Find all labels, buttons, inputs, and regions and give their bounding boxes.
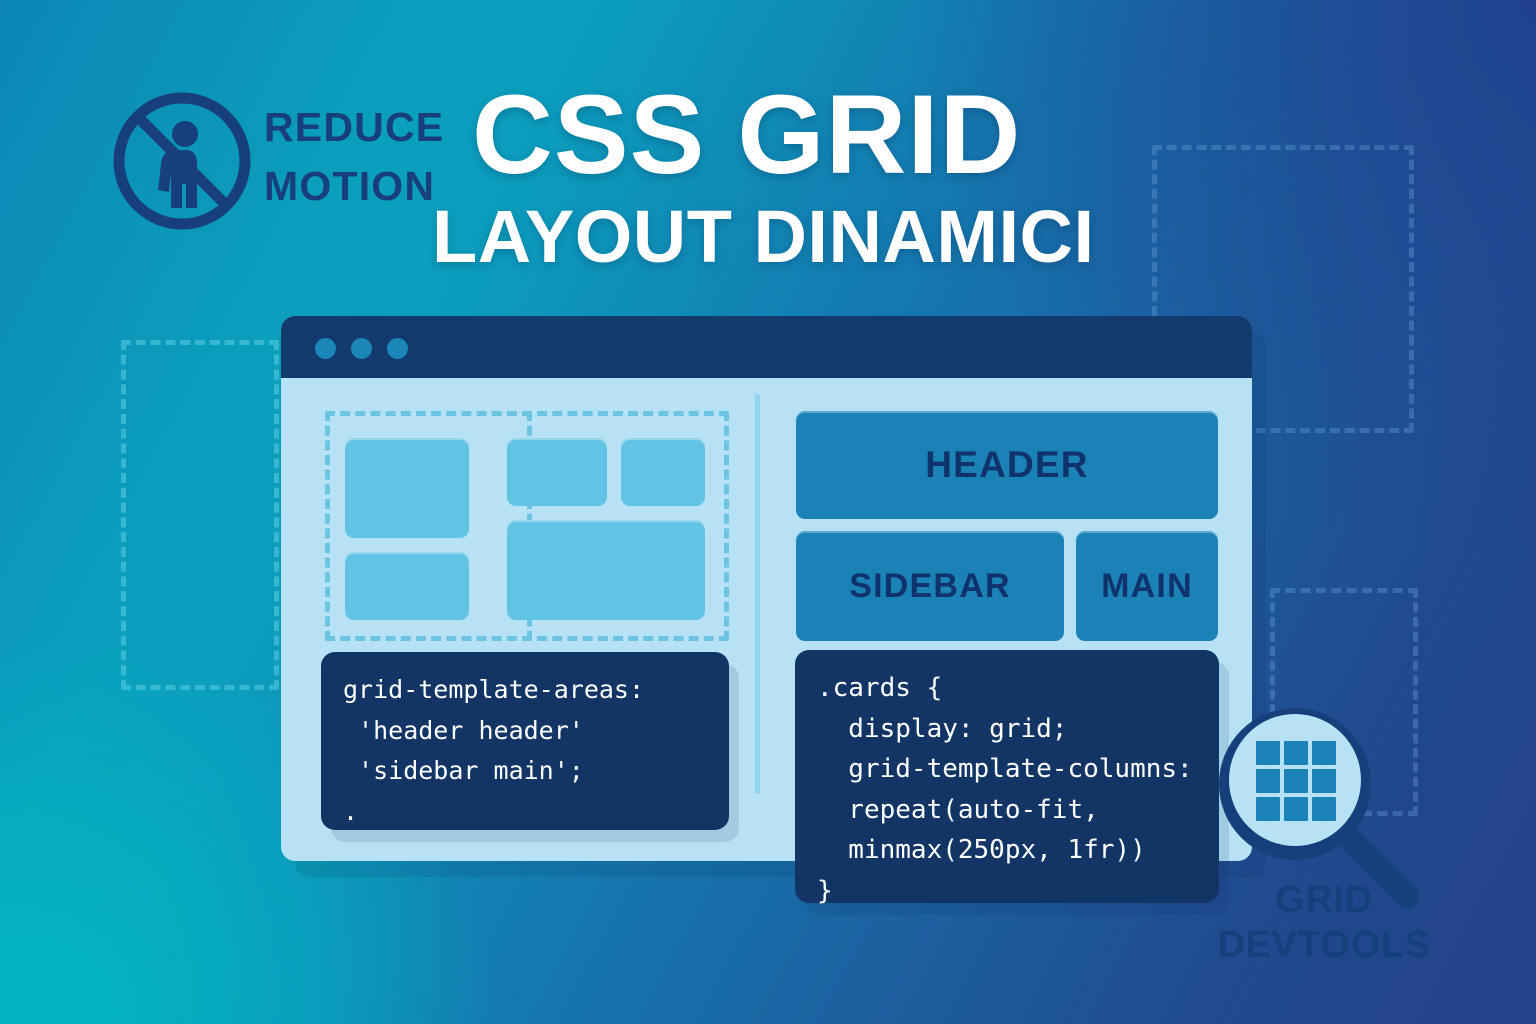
window-dot-maximize-icon[interactable] bbox=[387, 338, 408, 359]
devtools-label-line-2: DEVTOOLS bbox=[1216, 923, 1432, 968]
preview-card bbox=[345, 438, 469, 538]
grid-area-main: MAIN bbox=[1076, 531, 1218, 641]
window-dot-close-icon[interactable] bbox=[315, 338, 336, 359]
no-motion-icon bbox=[107, 86, 257, 236]
window-dot-minimize-icon[interactable] bbox=[351, 338, 372, 359]
code-block-grid-template-areas: grid-template-areas: 'header header' 'si… bbox=[321, 652, 729, 830]
badge-line-2: MOTION bbox=[264, 157, 444, 216]
reduce-motion-badge: REDUCE MOTION bbox=[264, 98, 444, 216]
page-subtitle: LAYOUT DINAMICI bbox=[432, 198, 1095, 276]
page-title: CSS GRID bbox=[472, 76, 1021, 195]
devtools-label: GRID DEVTOOLS bbox=[1216, 878, 1432, 968]
devtools-label-line-1: GRID bbox=[1216, 878, 1432, 923]
preview-card bbox=[507, 520, 705, 620]
badge-line-1: REDUCE bbox=[264, 98, 444, 157]
preview-card bbox=[507, 438, 607, 506]
decor-dashed-rect-left bbox=[121, 340, 279, 690]
preview-card bbox=[345, 552, 469, 620]
panel-divider bbox=[755, 394, 760, 794]
window-titlebar bbox=[281, 316, 1252, 378]
code-block-cards-rule: .cards { display: grid; grid-template-co… bbox=[795, 650, 1219, 903]
page-header: REDUCE MOTION CSS GRID LAYOUT DINAMICI bbox=[0, 0, 1536, 300]
preview-card bbox=[621, 438, 705, 506]
grid-area-header: HEADER bbox=[796, 411, 1218, 519]
grid-area-sidebar: SIDEBAR bbox=[796, 531, 1064, 641]
